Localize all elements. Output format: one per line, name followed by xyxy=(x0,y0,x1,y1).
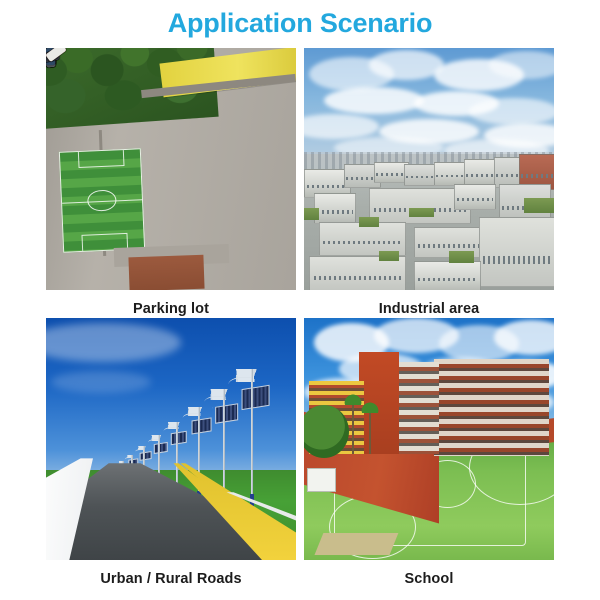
cloud-wisp xyxy=(51,371,151,393)
factory-building xyxy=(479,217,554,287)
factory-building xyxy=(464,159,496,185)
window-strip xyxy=(376,173,406,175)
window-strip xyxy=(323,241,401,245)
factory-building xyxy=(414,261,481,290)
parking-lot-image xyxy=(46,48,296,290)
factory-building xyxy=(454,184,496,210)
sky xyxy=(304,48,554,162)
field-penalty-box-top xyxy=(77,150,124,168)
cloud xyxy=(489,51,554,78)
caption-school: School xyxy=(304,571,554,587)
window-strip xyxy=(521,174,553,178)
solar-street-light xyxy=(231,369,274,512)
factory-building xyxy=(314,193,356,224)
scenario-cell-school: School xyxy=(304,318,554,587)
window-strip xyxy=(418,244,482,247)
window-strip xyxy=(457,198,494,201)
soccer-field xyxy=(59,148,145,253)
light-pole xyxy=(251,369,253,512)
cloud xyxy=(469,98,554,125)
school-building-stairwell xyxy=(394,362,439,454)
window-strip xyxy=(314,276,401,280)
cloud xyxy=(304,114,379,139)
scenario-grid: Parking lot Industrial area xyxy=(46,48,554,588)
cloud xyxy=(324,87,424,114)
caption-parking-lot: Parking lot xyxy=(46,301,296,317)
window-strip xyxy=(466,174,494,177)
factory-building xyxy=(309,256,406,290)
lawn-patch xyxy=(379,251,399,261)
building-floors xyxy=(394,362,439,454)
caption-urban-rural-roads: Urban / Rural Roads xyxy=(46,571,296,587)
scenario-cell-parking-lot: Parking lot xyxy=(46,48,296,317)
building-floors xyxy=(434,359,549,456)
window-strip xyxy=(317,210,354,213)
caption-industrial-area: Industrial area xyxy=(304,301,554,317)
school-image xyxy=(304,318,554,560)
window-strip xyxy=(483,256,552,264)
application-scenario-page: Application Scenario Parking lot xyxy=(0,0,600,600)
scenario-cell-industrial-area: Industrial area xyxy=(304,48,554,317)
brick-building xyxy=(128,255,204,290)
lawn-patch xyxy=(409,208,434,218)
industrial-area-image xyxy=(304,48,554,290)
basketball-backboard xyxy=(307,468,337,492)
lawn-patch xyxy=(524,198,554,213)
solar-panel xyxy=(242,385,269,410)
page-title: Application Scenario xyxy=(0,8,600,39)
school-building-main xyxy=(434,359,549,456)
long-jump-pit xyxy=(315,533,399,555)
cloud xyxy=(369,50,444,80)
lawn-patch xyxy=(449,251,474,263)
palm-tree xyxy=(352,400,354,453)
lawn-patch xyxy=(304,208,319,220)
lawn-patch xyxy=(359,217,379,227)
window-strip xyxy=(406,176,434,178)
window-strip xyxy=(418,278,478,281)
factory-building xyxy=(404,164,436,185)
scenario-cell-urban-rural-roads: Urban / Rural Roads xyxy=(46,318,296,587)
urban-rural-roads-image xyxy=(46,318,296,560)
window-strip xyxy=(307,185,348,188)
palm-tree xyxy=(369,408,371,454)
